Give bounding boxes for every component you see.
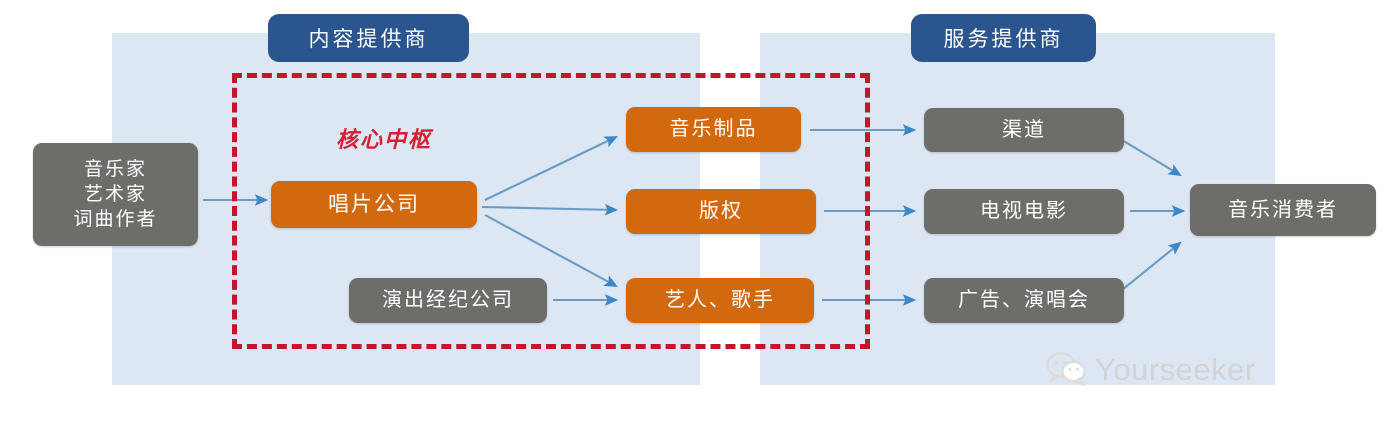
node-label-company: 唱片公司 (271, 181, 477, 228)
core-hub-annotation: 核心中枢 (336, 122, 432, 154)
node-music-consumers: 音乐消费者 (1190, 184, 1376, 236)
node-creators: 音乐家 艺术家 词曲作者 (33, 143, 198, 246)
node-music-products: 音乐制品 (626, 107, 801, 152)
diagram-canvas: 内容提供商 服务提供商 核心中枢 音乐家 艺术家 词曲作者 唱片公司 演出经纪公… (0, 0, 1397, 427)
content-provider-header: 内容提供商 (268, 14, 469, 62)
wechat-icon (1046, 352, 1086, 386)
node-copyright: 版权 (626, 189, 816, 234)
node-ads-concerts: 广告、演唱会 (924, 278, 1124, 323)
service-provider-header: 服务提供商 (911, 14, 1096, 62)
node-artists-singers: 艺人、歌手 (626, 278, 814, 323)
node-tv-film: 电视电影 (924, 189, 1124, 234)
node-performance-agency: 演出经纪公司 (349, 278, 547, 323)
watermark: Yourseeker (1046, 352, 1256, 386)
watermark-text: Yourseeker (1095, 354, 1256, 385)
node-creators-line-3: 词曲作者 (73, 207, 157, 232)
node-channel: 渠道 (924, 108, 1124, 152)
node-creators-line-1: 音乐家 (84, 157, 147, 182)
node-creators-line-2: 艺术家 (84, 182, 147, 207)
